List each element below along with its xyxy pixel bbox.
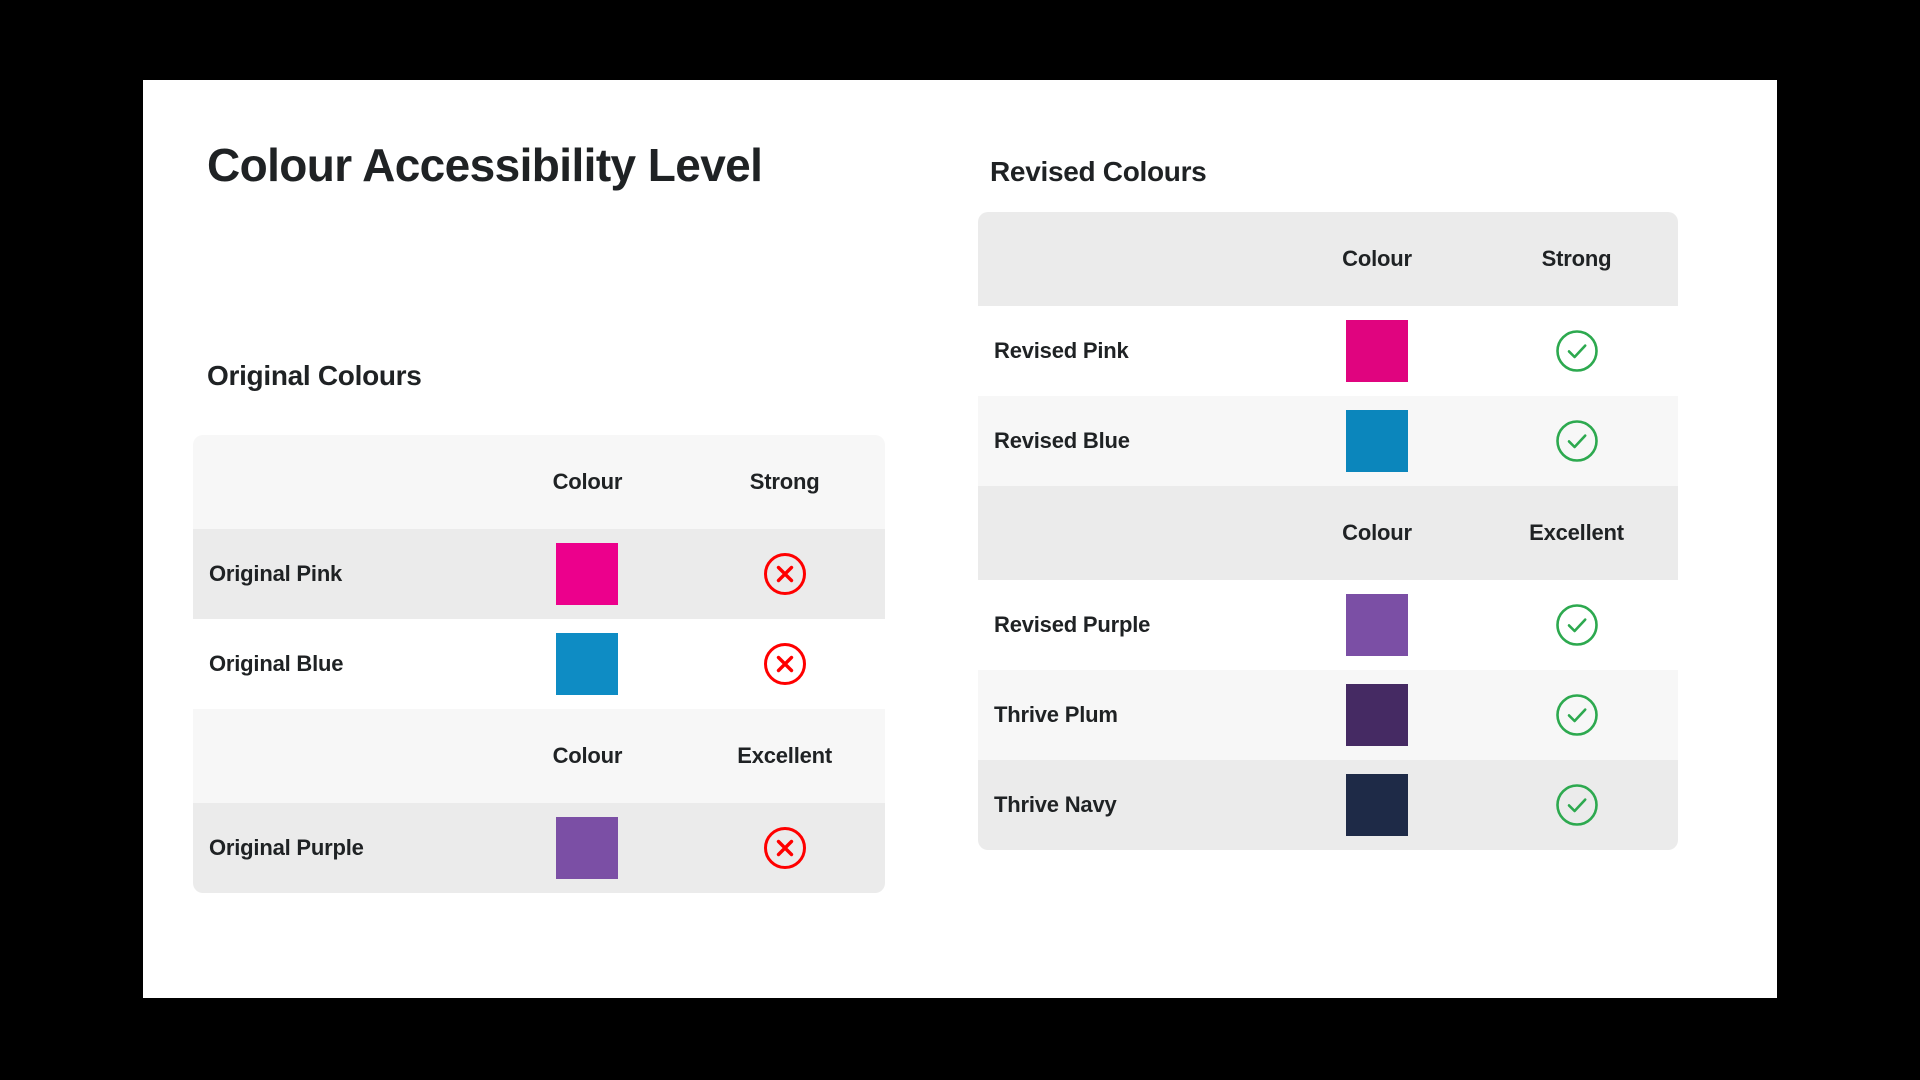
colour-swatch: [1346, 684, 1408, 746]
circle-check-icon: [1554, 692, 1600, 738]
table-header-row: Colour Strong: [978, 212, 1678, 306]
row-name: Revised Blue: [978, 428, 1279, 454]
circle-check-icon: [1554, 782, 1600, 828]
colour-swatch: [1346, 594, 1408, 656]
header-level-label: Strong: [1542, 246, 1612, 272]
revised-colours-table: Colour Strong Revised Pink Revised Blue: [978, 212, 1678, 850]
row-colour-cell: [491, 633, 685, 695]
table-row[interactable]: Revised Purple: [978, 580, 1678, 670]
row-status-cell: [684, 551, 885, 597]
table-row[interactable]: Original Purple: [193, 803, 885, 893]
row-colour-cell: [1279, 410, 1475, 472]
header-colour-cell: Colour: [491, 469, 685, 495]
table-row[interactable]: Revised Blue: [978, 396, 1678, 486]
row-status-cell: [1475, 602, 1678, 648]
circle-x-icon: [762, 551, 808, 597]
original-colours-panel: Colour Accessibility Level Original Colo…: [143, 80, 936, 998]
circle-check-icon: [1554, 328, 1600, 374]
colour-swatch: [556, 817, 618, 879]
row-colour-cell: [1279, 684, 1475, 746]
colour-swatch: [1346, 774, 1408, 836]
header-colour-cell: Colour: [491, 743, 685, 769]
header-level-label: Strong: [750, 469, 820, 495]
header-colour-label: Colour: [553, 743, 623, 769]
circle-check-icon: [1554, 418, 1600, 464]
row-name: Original Pink: [193, 561, 491, 587]
circle-x-icon: [762, 641, 808, 687]
row-name: Thrive Plum: [978, 702, 1279, 728]
header-colour-label: Colour: [553, 469, 623, 495]
row-name: Revised Pink: [978, 338, 1279, 364]
colour-swatch: [556, 543, 618, 605]
row-status-cell: [1475, 692, 1678, 738]
row-status-cell: [684, 825, 885, 871]
row-name: Original Purple: [193, 835, 491, 861]
table-header-row: Colour Strong: [193, 435, 885, 529]
table-row[interactable]: Revised Pink: [978, 306, 1678, 396]
row-name: Thrive Navy: [978, 792, 1279, 818]
header-level-cell: Excellent: [1475, 520, 1678, 546]
header-colour-label: Colour: [1342, 246, 1412, 272]
row-name: Original Blue: [193, 651, 491, 677]
row-colour-cell: [491, 817, 685, 879]
colour-swatch: [556, 633, 618, 695]
original-colours-table: Colour Strong Original Pink Original Blu…: [193, 435, 885, 893]
table-row[interactable]: Thrive Plum: [978, 670, 1678, 760]
section-title-revised: Revised Colours: [990, 156, 1206, 188]
header-level-cell: Excellent: [684, 743, 885, 769]
row-status-cell: [1475, 328, 1678, 374]
row-colour-cell: [491, 543, 685, 605]
row-name: Revised Purple: [978, 612, 1279, 638]
row-status-cell: [684, 641, 885, 687]
header-level-label: Excellent: [1529, 520, 1624, 546]
content-card: Colour Accessibility Level Original Colo…: [143, 80, 1777, 998]
header-colour-label: Colour: [1342, 520, 1412, 546]
table-header-row: Colour Excellent: [193, 709, 885, 803]
row-colour-cell: [1279, 320, 1475, 382]
table-row[interactable]: Original Pink: [193, 529, 885, 619]
page-title: Colour Accessibility Level: [207, 138, 762, 192]
colour-swatch: [1346, 410, 1408, 472]
table-row[interactable]: Original Blue: [193, 619, 885, 709]
row-colour-cell: [1279, 774, 1475, 836]
section-title-original: Original Colours: [207, 360, 422, 392]
header-colour-cell: Colour: [1279, 520, 1475, 546]
table-header-row: Colour Excellent: [978, 486, 1678, 580]
table-row[interactable]: Thrive Navy: [978, 760, 1678, 850]
revised-colours-panel: Revised Colours Colour Strong Revised Pi…: [936, 80, 1777, 998]
header-level-label: Excellent: [737, 743, 832, 769]
row-colour-cell: [1279, 594, 1475, 656]
row-status-cell: [1475, 782, 1678, 828]
row-status-cell: [1475, 418, 1678, 464]
circle-x-icon: [762, 825, 808, 871]
header-level-cell: Strong: [1475, 246, 1678, 272]
colour-swatch: [1346, 320, 1408, 382]
header-level-cell: Strong: [684, 469, 885, 495]
header-colour-cell: Colour: [1279, 246, 1475, 272]
circle-check-icon: [1554, 602, 1600, 648]
